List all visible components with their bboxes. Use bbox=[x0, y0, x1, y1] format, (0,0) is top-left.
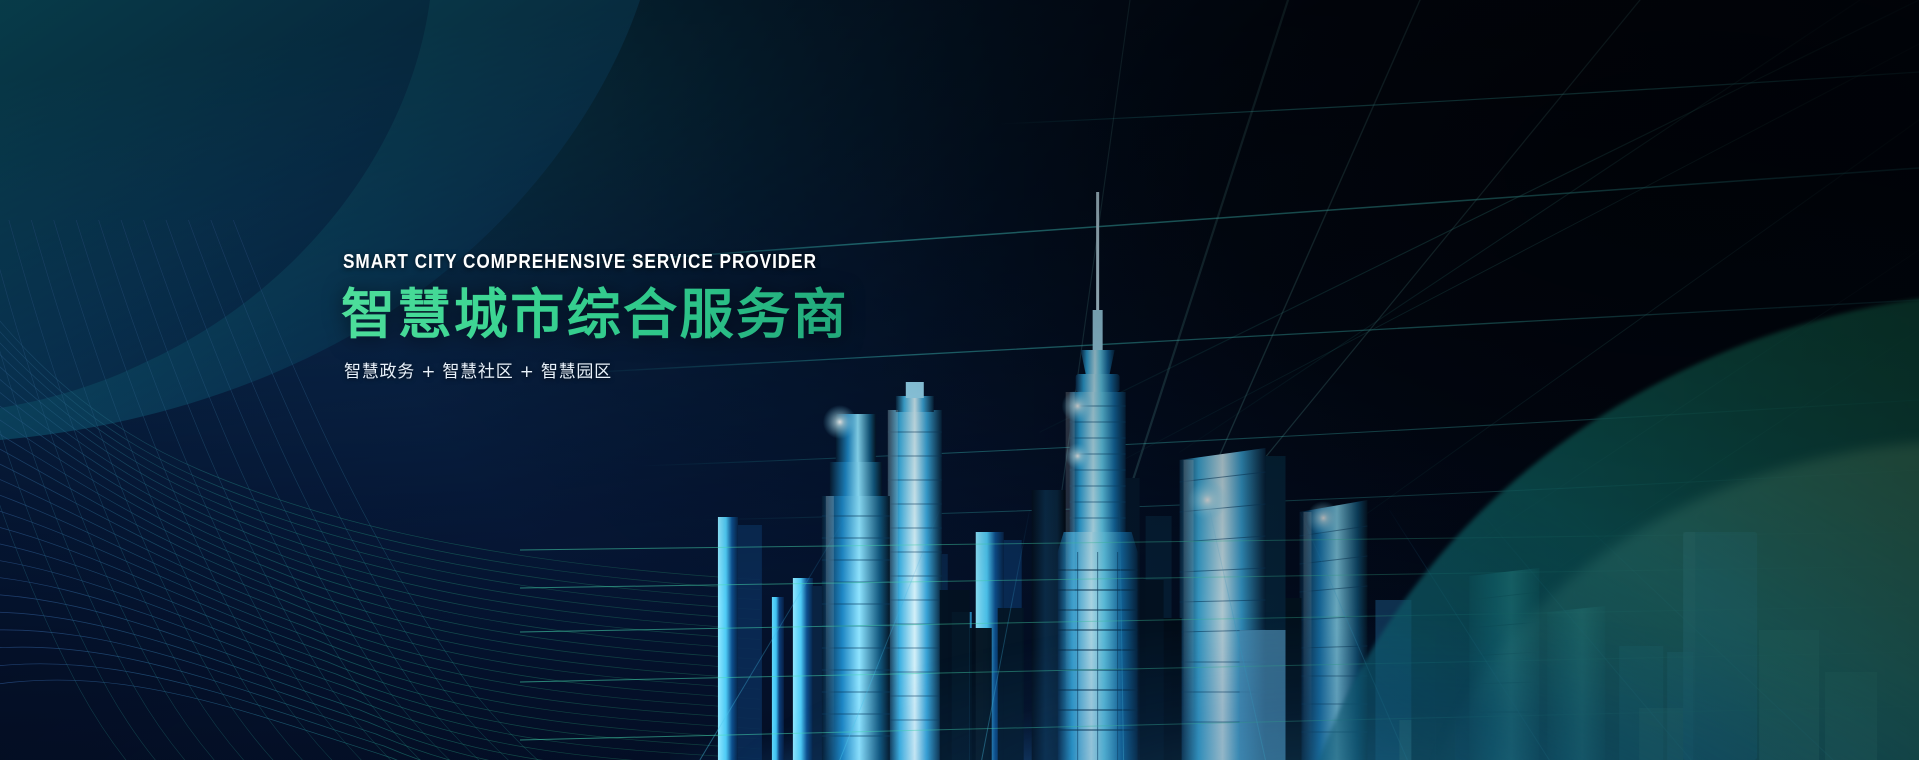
hero-banner: SMART CITY COMPREHENSIVE SERVICE PROVIDE… bbox=[0, 0, 1919, 760]
banner-eyebrow: SMART CITY COMPREHENSIVE SERVICE PROVIDE… bbox=[343, 252, 874, 272]
banner-subline: 智慧政务 + 智慧社区 + 智慧园区 bbox=[344, 357, 961, 382]
banner-headline: 智慧城市综合服务商 bbox=[341, 286, 961, 343]
hero-copy-block: SMART CITY COMPREHENSIVE SERVICE PROVIDE… bbox=[341, 252, 961, 382]
